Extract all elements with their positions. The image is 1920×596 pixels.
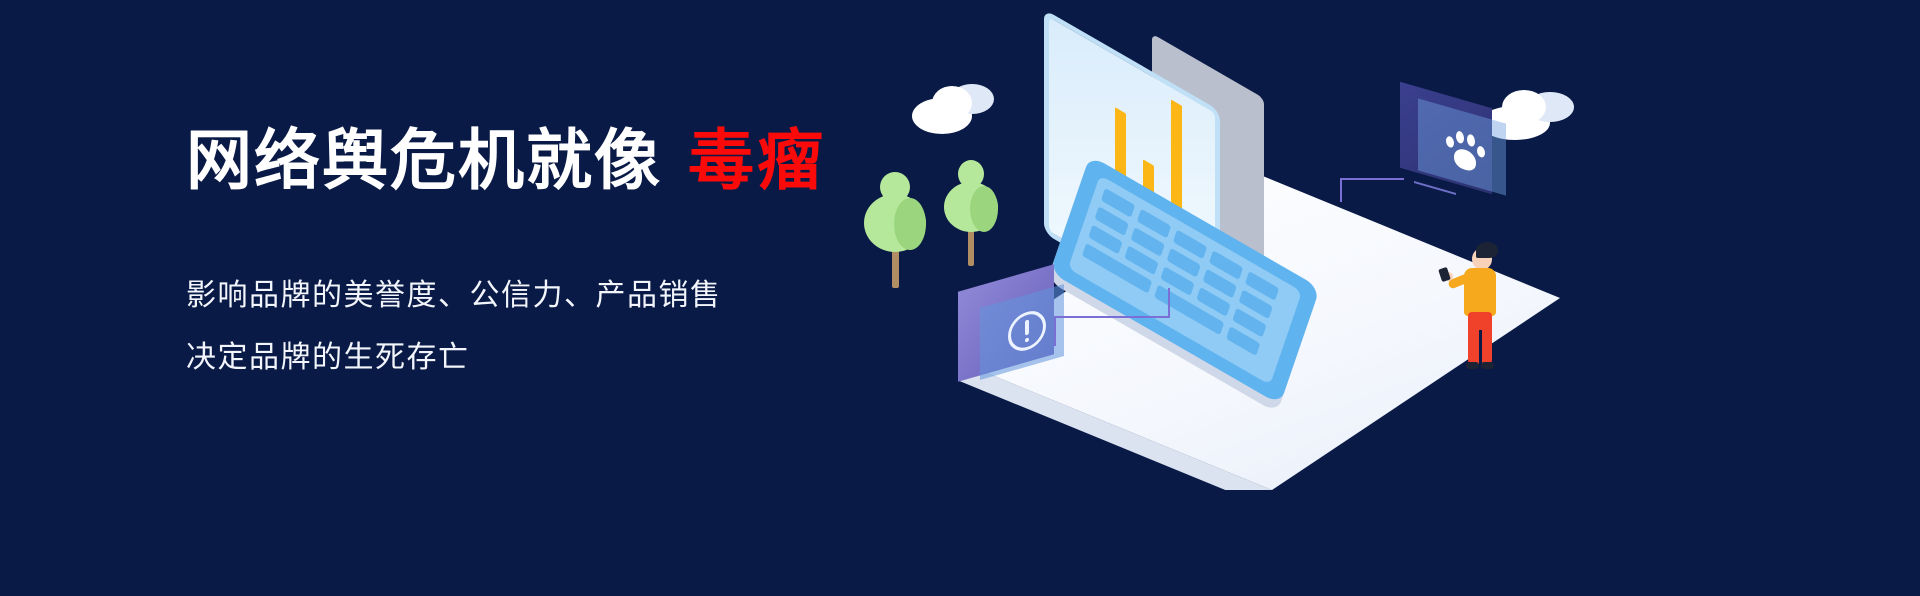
subtitle-line-2: 决定品牌的生死存亡 — [186, 330, 946, 386]
headline-main-text: 网络舆危机就像 — [186, 123, 662, 197]
cloud-icon — [912, 82, 996, 134]
hero-banner: 网络舆危机就像毒瘤 影响品牌的美誉度、公信力、产品销售 决定品牌的生死存亡 — [0, 0, 1920, 596]
connector-wire — [1108, 288, 1170, 318]
panel-paw-print — [1400, 95, 1492, 181]
laptop-icon — [1036, 60, 1396, 360]
connector-wire — [1054, 316, 1110, 346]
banner-text-block: 网络舆危机就像毒瘤 影响品牌的美誉度、公信力、产品销售 决定品牌的生死存亡 — [186, 118, 946, 386]
headline-accent-text: 毒瘤 — [688, 123, 826, 197]
person-with-phone-icon — [1450, 238, 1520, 378]
subtitle-line-1: 影响品牌的美誉度、公信力、产品销售 — [186, 268, 946, 324]
tree-icon — [864, 168, 926, 288]
page-title: 网络舆危机就像毒瘤 — [186, 118, 946, 202]
connector-wire — [1340, 178, 1404, 202]
hero-illustration — [840, 40, 1860, 560]
panel-warning — [958, 278, 1054, 368]
